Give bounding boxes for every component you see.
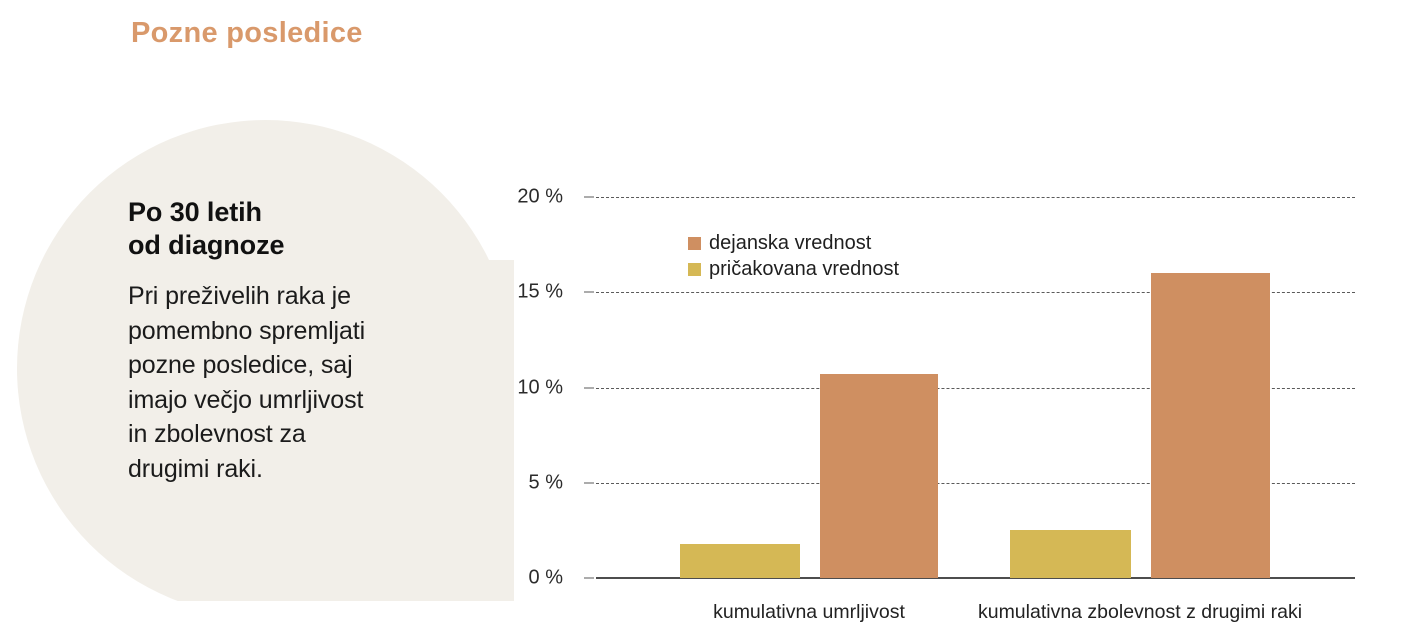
callout-body: Pri preživelih raka je pomembno spremlja… bbox=[128, 279, 458, 486]
bar-actual-1 bbox=[1151, 273, 1270, 578]
y-tick-mark bbox=[584, 292, 594, 293]
callout-heading: Po 30 letih od diagnoze bbox=[128, 196, 458, 262]
section-title: Pozne posledice bbox=[131, 17, 363, 50]
y-tick-mark bbox=[584, 482, 594, 483]
bar-chart: 0 %5 %10 %15 %20 %kumulativna umrljivost… bbox=[528, 180, 1378, 620]
infographic-panel: Pozne posledice Po 30 letih od diagnoze … bbox=[0, 0, 1404, 629]
legend-item-0: dejanska vrednost bbox=[688, 230, 899, 256]
chart-legend: dejanska vrednostpričakovana vrednost bbox=[688, 230, 899, 282]
y-axis-tick-label: 5 % bbox=[493, 471, 563, 494]
callout-text-block: Po 30 letih od diagnoze Pri preživelih r… bbox=[128, 196, 458, 486]
legend-swatch-icon bbox=[688, 237, 701, 250]
y-axis-tick-label: 20 % bbox=[493, 186, 563, 209]
legend-item-1: pričakovana vrednost bbox=[688, 256, 899, 282]
y-tick-mark bbox=[584, 387, 594, 388]
bar-expected-1 bbox=[1010, 530, 1131, 578]
y-axis-tick-label: 15 % bbox=[493, 281, 563, 304]
x-axis-category-label-1: kumulativna zbolevnost z drugimi raki bbox=[978, 601, 1302, 624]
x-axis-category-label-0: kumulativna umrljivost bbox=[713, 601, 905, 624]
bar-actual-0 bbox=[820, 374, 938, 578]
legend-swatch-icon bbox=[688, 263, 701, 276]
legend-label: dejanska vrednost bbox=[709, 232, 871, 255]
legend-label: pričakovana vrednost bbox=[709, 258, 899, 281]
y-tick-mark bbox=[584, 578, 594, 579]
bar-expected-0 bbox=[680, 544, 800, 578]
gridline-20 bbox=[596, 197, 1355, 198]
y-axis-tick-label: 10 % bbox=[493, 376, 563, 399]
y-tick-mark bbox=[584, 197, 594, 198]
y-axis-tick-label: 0 % bbox=[493, 567, 563, 590]
